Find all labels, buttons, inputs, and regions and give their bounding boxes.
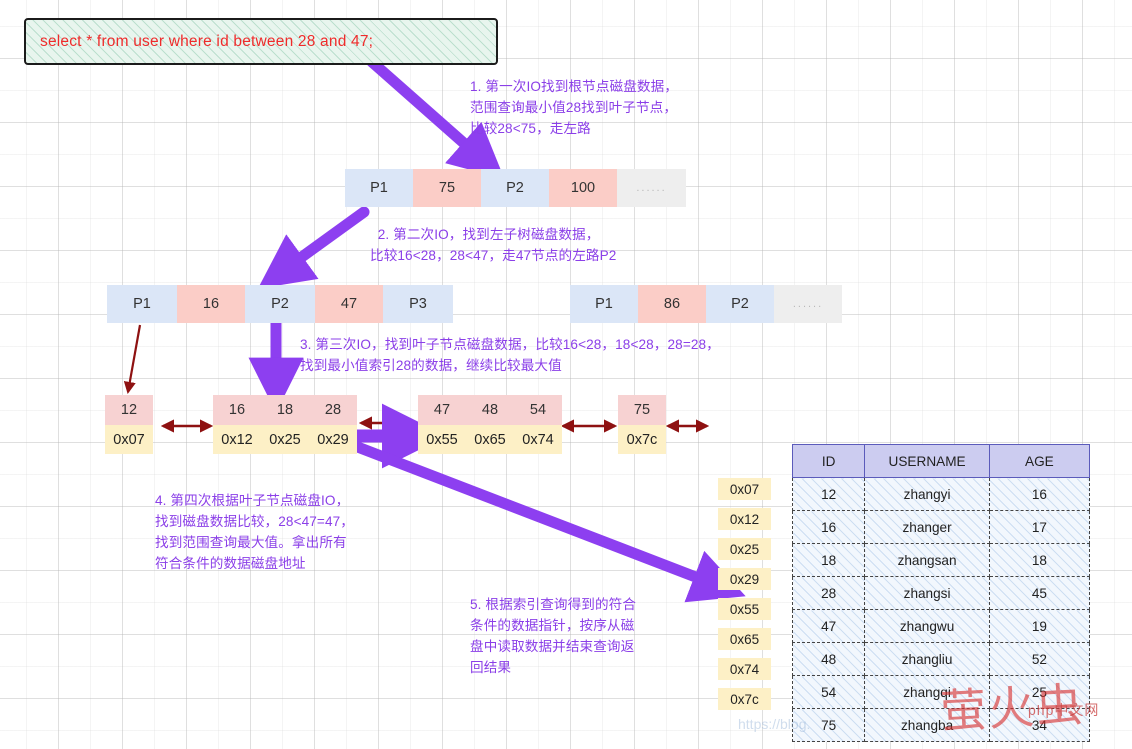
diagram-canvas: select * from user where id between 28 a… [0, 0, 1132, 749]
table-cell: 16 [989, 478, 1089, 511]
table-cell: zhangwu [865, 610, 989, 643]
table-column-header: AGE [989, 445, 1089, 478]
table-cell: zhanger [865, 511, 989, 544]
table-cell: 16 [793, 511, 865, 544]
address-box: 0x07 [718, 478, 771, 500]
table-cell: 19 [989, 610, 1089, 643]
node-key-cell: 16 [177, 285, 245, 323]
address-stack: 0x070x120x250x290x550x650x740x7c [718, 478, 771, 718]
node-ellipsis-cell: ...... [617, 169, 686, 207]
arrow-sql-to-root [372, 62, 483, 160]
leaf-address-cell: 0x65 [466, 425, 514, 454]
root-node: P175P2100...... [345, 169, 686, 207]
table-row: 54zhangqi25 [793, 676, 1090, 709]
table-cell: 34 [989, 709, 1089, 742]
annotation-step-2: 2. 第二次IO，找到左子树磁盘数据， 比较16<28，28<47，走47节点的… [370, 224, 616, 266]
table-cell: 45 [989, 577, 1089, 610]
table-cell: 18 [793, 544, 865, 577]
node-pointer-cell: P1 [107, 285, 177, 323]
leaf-address-cell: 0x74 [514, 425, 562, 454]
leaf-key-row: 75 [618, 395, 666, 425]
arrow-leaf-to-address-stack [355, 446, 719, 586]
leaf-address-row: 0x7c [618, 425, 666, 454]
table-cell: 52 [989, 643, 1089, 676]
leaf-key-row: 474854 [418, 395, 562, 425]
leaf-key-row: 161828 [213, 395, 357, 425]
leaf-address-cell: 0x25 [261, 425, 309, 454]
leaf-key-cell: 75 [618, 395, 666, 425]
leaf-key-cell: 18 [261, 395, 309, 425]
leaf-address-row: 0x120x250x29 [213, 425, 357, 454]
table-cell: zhangba [865, 709, 989, 742]
table-row: 12zhangyi16 [793, 478, 1090, 511]
leaf-address-cell: 0x07 [105, 425, 153, 454]
address-box: 0x12 [718, 508, 771, 530]
table-body: 12zhangyi1616zhanger1718zhangsan1828zhan… [793, 478, 1090, 742]
address-box: 0x55 [718, 598, 771, 620]
node-key-cell: 47 [315, 285, 383, 323]
node-key-cell: 75 [413, 169, 481, 207]
node-key-cell: 100 [549, 169, 617, 207]
table-cell: 54 [793, 676, 865, 709]
node-pointer-cell: P2 [706, 285, 774, 323]
arrow-internal-to-leaf1 [128, 325, 140, 392]
table-row: 75zhangba34 [793, 709, 1090, 742]
address-box: 0x7c [718, 688, 771, 710]
leaf-address-cell: 0x12 [213, 425, 261, 454]
leaf-node: 1618280x120x250x29 [213, 395, 357, 454]
leaf-key-cell: 12 [105, 395, 153, 425]
leaf-node: 750x7c [618, 395, 666, 454]
leaf-key-cell: 47 [418, 395, 466, 425]
table-column-header: USERNAME [865, 445, 989, 478]
leaf-address-row: 0x07 [105, 425, 153, 454]
internal-node-left: P116P247P3 [107, 285, 453, 323]
table-cell: 47 [793, 610, 865, 643]
table-cell: 75 [793, 709, 865, 742]
sql-query-text: select * from user where id between 28 a… [26, 33, 373, 51]
address-box: 0x65 [718, 628, 771, 650]
address-box: 0x29 [718, 568, 771, 590]
table-column-header: ID [793, 445, 865, 478]
leaf-node: 4748540x550x650x74 [418, 395, 562, 454]
table-cell: zhangsan [865, 544, 989, 577]
table-row: 28zhangsi45 [793, 577, 1090, 610]
table-row: 16zhanger17 [793, 511, 1090, 544]
sql-query-box: select * from user where id between 28 a… [24, 18, 498, 65]
table-cell: zhangliu [865, 643, 989, 676]
table-cell: zhangqi [865, 676, 989, 709]
leaf-key-cell: 54 [514, 395, 562, 425]
table-cell: 18 [989, 544, 1089, 577]
table-cell: zhangyi [865, 478, 989, 511]
address-box: 0x25 [718, 538, 771, 560]
leaf-key-cell: 16 [213, 395, 261, 425]
user-data-table: IDUSERNAMEAGE 12zhangyi1616zhanger1718zh… [792, 444, 1090, 742]
table-cell: 25 [989, 676, 1089, 709]
leaf-node: 120x07 [105, 395, 153, 454]
node-pointer-cell: P1 [570, 285, 638, 323]
node-pointer-cell: P2 [245, 285, 315, 323]
table-cell: 17 [989, 511, 1089, 544]
table-row: 48zhangliu52 [793, 643, 1090, 676]
table-cell: 48 [793, 643, 865, 676]
annotation-step-1: 1. 第一次IO找到根节点磁盘数据， 范围查询最小值28找到叶子节点， 比较28… [470, 76, 678, 139]
leaf-address-cell: 0x29 [309, 425, 357, 454]
table-cell: zhangsi [865, 577, 989, 610]
node-pointer-cell: P2 [481, 169, 549, 207]
node-ellipsis-cell: ...... [774, 285, 842, 323]
annotation-step-4: 4. 第四次根据叶子节点磁盘IO， 找到磁盘数据比较，28<47=47， 找到范… [155, 490, 354, 574]
table-row: 18zhangsan18 [793, 544, 1090, 577]
leaf-address-row: 0x550x650x74 [418, 425, 562, 454]
table-header-row: IDUSERNAMEAGE [793, 445, 1090, 478]
leaf-address-cell: 0x7c [618, 425, 666, 454]
node-pointer-cell: P1 [345, 169, 413, 207]
table-row: 47zhangwu19 [793, 610, 1090, 643]
leaf-key-row: 12 [105, 395, 153, 425]
leaf-key-cell: 28 [309, 395, 357, 425]
annotation-step-5: 5. 根据索引查询得到的符合 条件的数据指针，按序从磁 盘中读取数据并结束查询返… [470, 594, 636, 678]
arrow-root-to-internal-left [281, 212, 364, 272]
leaf-key-cell: 48 [466, 395, 514, 425]
address-box: 0x74 [718, 658, 771, 680]
annotation-step-3: 3. 第三次IO，找到叶子节点磁盘数据，比较16<28，18<28，28=28，… [300, 334, 720, 376]
table-cell: 12 [793, 478, 865, 511]
leaf-address-cell: 0x55 [418, 425, 466, 454]
internal-node-right: P186P2...... [570, 285, 842, 323]
table-cell: 28 [793, 577, 865, 610]
node-key-cell: 86 [638, 285, 706, 323]
node-pointer-cell: P3 [383, 285, 453, 323]
